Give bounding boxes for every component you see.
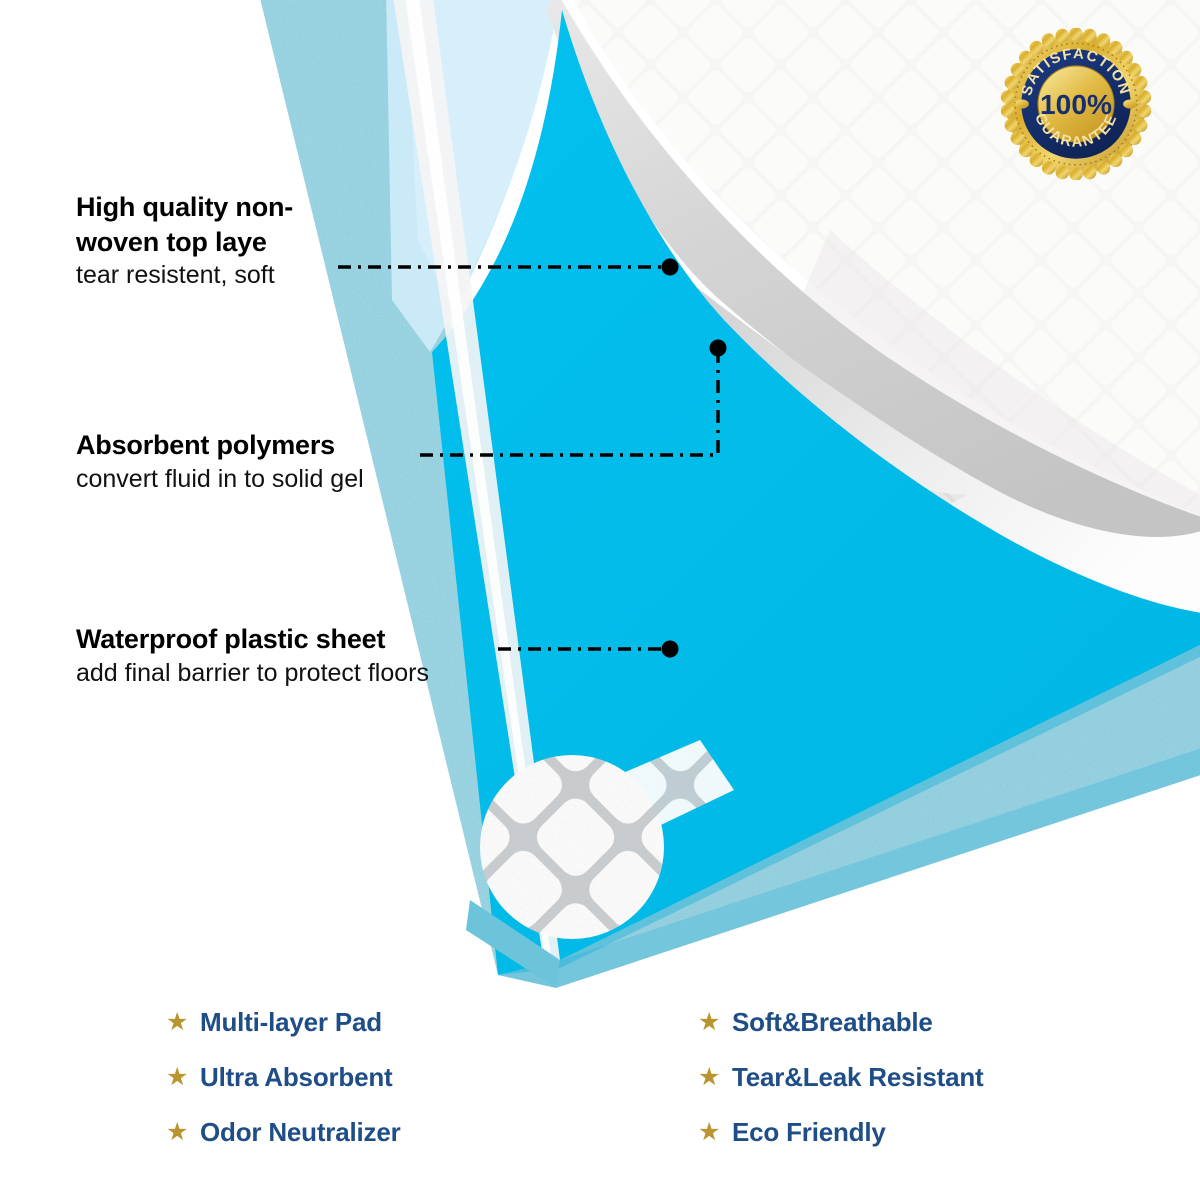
callout-waterproof-title: Waterproof plastic sheet xyxy=(76,622,506,657)
feature-label: Ultra Absorbent xyxy=(200,1062,393,1093)
star-icon: ★ xyxy=(166,1010,200,1035)
star-icon: ★ xyxy=(166,1065,200,1090)
callout-top-layer: High quality non-woven top laye tear res… xyxy=(76,190,344,292)
feature-label: Soft&Breathable xyxy=(732,1007,933,1038)
callout-top-layer-title: High quality non-woven top laye xyxy=(76,190,344,259)
star-icon: ★ xyxy=(166,1120,200,1145)
feature-item-ultra-absorbent: ★ Ultra Absorbent xyxy=(166,1050,626,1105)
feature-column-left: ★ Multi-layer Pad ★ Ultra Absorbent ★ Od… xyxy=(166,995,626,1185)
feature-item-multi-layer-pad: ★ Multi-layer Pad xyxy=(166,995,626,1050)
satisfaction-guarantee-badge: SATISFACTION GUARANTEE 100% xyxy=(1000,28,1152,180)
feature-list: ★ Multi-layer Pad ★ Ultra Absorbent ★ Od… xyxy=(0,995,1200,1185)
feature-column-right: ★ Soft&Breathable ★ Tear&Leak Resistant … xyxy=(698,995,1138,1185)
star-icon: ★ xyxy=(698,1120,732,1145)
feature-item-soft-breathable: ★ Soft&Breathable xyxy=(698,995,1138,1050)
badge-right-nub xyxy=(1123,99,1137,108)
callout-top-layer-subtitle: tear resistent, soft xyxy=(76,259,344,292)
callout-waterproof-subtitle: add final barrier to protect floors xyxy=(76,657,506,690)
feature-label: Tear&Leak Resistant xyxy=(732,1062,984,1093)
star-icon: ★ xyxy=(698,1010,732,1035)
callout-polymers-title: Absorbent polymers xyxy=(76,428,506,463)
callout-polymers: Absorbent polymers convert fluid in to s… xyxy=(76,428,506,495)
feature-item-eco-friendly: ★ Eco Friendly xyxy=(698,1105,1138,1160)
badge-center-percent: 100% xyxy=(1040,89,1112,120)
feature-item-odor-neutralizer: ★ Odor Neutralizer xyxy=(166,1105,626,1160)
star-icon: ★ xyxy=(698,1065,732,1090)
feature-item-tear-leak-resistant: ★ Tear&Leak Resistant xyxy=(698,1050,1138,1105)
feature-label: Odor Neutralizer xyxy=(200,1117,401,1148)
feature-label: Eco Friendly xyxy=(732,1117,886,1148)
badge-left-nub xyxy=(1015,99,1029,108)
feature-label: Multi-layer Pad xyxy=(200,1007,382,1038)
product-infographic: High quality non-woven top laye tear res… xyxy=(0,0,1200,1200)
callout-waterproof: Waterproof plastic sheet add final barri… xyxy=(76,622,506,689)
callout-polymers-subtitle: convert fluid in to solid gel xyxy=(76,463,506,496)
